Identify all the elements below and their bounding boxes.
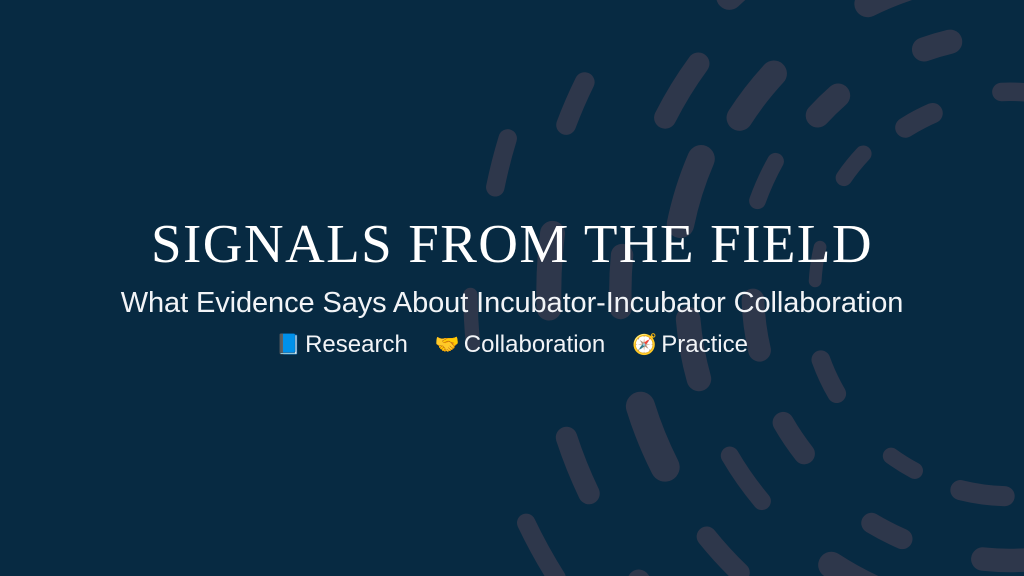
compass-icon: 🧭 — [632, 334, 654, 356]
pillar-item: 🤝Collaboration — [435, 331, 605, 360]
blue-book-icon: 📘 — [276, 334, 298, 356]
page-title: SIGNALS FROM THE FIELD — [151, 216, 873, 271]
slide-subtitle: What Evidence Says About Incubator-Incub… — [121, 287, 904, 320]
pillar-label: Research — [305, 331, 408, 360]
pillar-item: 📘Research — [276, 331, 408, 360]
title-slide: SIGNALS FROM THE FIELD What Evidence Say… — [0, 0, 1024, 576]
pillar-label: Practice — [661, 331, 748, 360]
slide-content: SIGNALS FROM THE FIELD What Evidence Say… — [0, 0, 1024, 576]
pillar-label: Collaboration — [464, 331, 605, 360]
pillar-list: 📘Research🤝Collaboration🧭Practice — [276, 331, 748, 360]
handshake-icon: 🤝 — [435, 334, 457, 356]
pillar-item: 🧭Practice — [632, 331, 748, 360]
